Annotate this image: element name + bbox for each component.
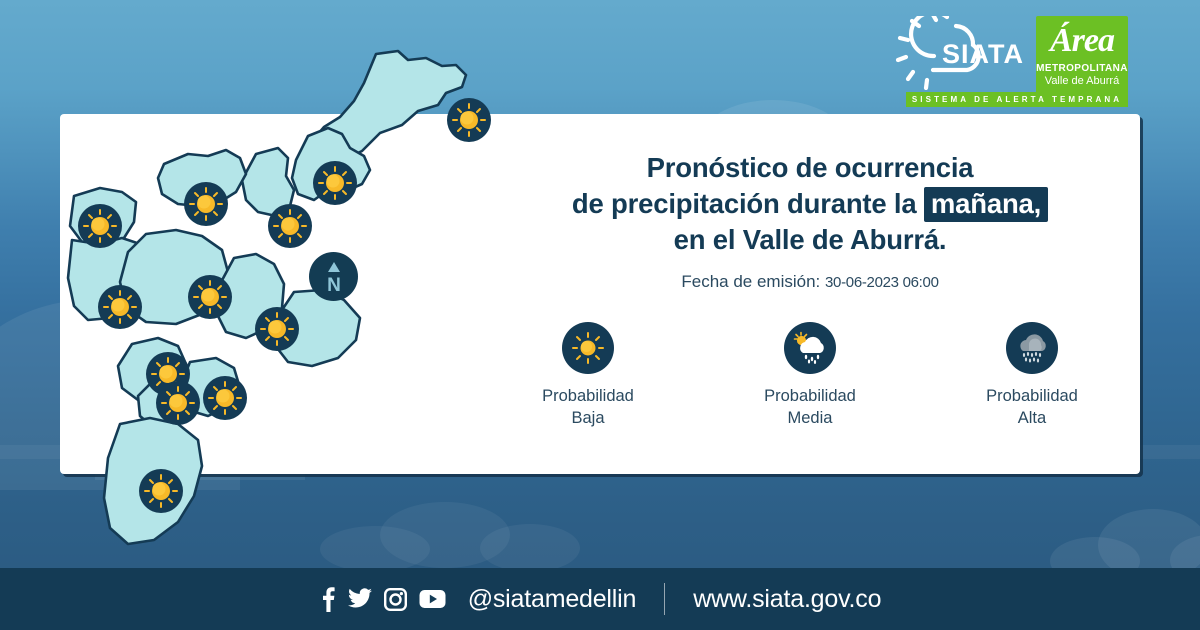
footer-bar: @siatamedellin www.siata.gov.co	[0, 568, 1200, 630]
legend-label-baja: Probabilidad Baja	[542, 385, 634, 429]
siata-logo: SIATA	[894, 16, 1024, 90]
legend-media-line1: Probabilidad	[764, 385, 856, 407]
social-handle[interactable]: @siatamedellin	[468, 585, 637, 614]
forecast-content: Pronóstico de ocurrencia de precipitació…	[500, 150, 1120, 429]
tagline-band: SISTEMA DE ALERTA TEMPRANA	[906, 92, 1128, 107]
marker-girardota[interactable]	[313, 161, 357, 205]
ama-line2: Valle de Aburrá	[1045, 75, 1119, 88]
marker-envigado[interactable]	[255, 307, 299, 351]
logo-group: SIATA Área METROPOLITANA Valle de Aburrá	[894, 16, 1128, 100]
area-metropolitana-logo: Área METROPOLITANA Valle de Aburrá	[1036, 16, 1128, 100]
legend-baja-line1: Probabilidad	[542, 385, 634, 407]
legend-item-media: Probabilidad Media	[740, 322, 880, 429]
emission-date-row: Fecha de emisión: 30-06-2023 06:00	[500, 272, 1120, 292]
page-title: Pronóstico de ocurrencia de precipitació…	[500, 150, 1120, 258]
sun-rain-cloud-icon	[784, 322, 836, 374]
legend-alta-line1: Probabilidad	[986, 385, 1078, 407]
title-line-2: de precipitación durante la mañana,	[500, 186, 1120, 222]
siata-logo-text: SIATA	[942, 39, 1024, 69]
ama-script-text: Área	[1050, 19, 1114, 63]
emission-date: 30-06-2023 06:00	[825, 274, 939, 291]
legend-label-media: Probabilidad Media	[764, 385, 856, 429]
facebook-icon[interactable]	[319, 586, 336, 612]
emission-label: Fecha de emisión:	[681, 272, 820, 291]
compass-label: N	[327, 275, 341, 294]
title-line-3: en el Valle de Aburrá.	[500, 222, 1120, 258]
marker-bello-norte[interactable]	[78, 204, 122, 248]
website-url[interactable]: www.siata.gov.co	[693, 585, 881, 614]
marker-sabaneta[interactable]	[203, 376, 247, 420]
marker-bello[interactable]	[98, 285, 142, 329]
legend-media-line2: Media	[764, 407, 856, 429]
valle-de-aburra-map	[58, 44, 478, 564]
cloud-decoration	[1050, 505, 1200, 575]
infographic: SIATA Área METROPOLITANA Valle de Aburrá…	[0, 0, 1200, 630]
marker-barbosa[interactable]	[447, 98, 491, 142]
instagram-icon[interactable]	[384, 588, 407, 611]
marker-la-estrella[interactable]	[156, 381, 200, 425]
title-line-1: Pronóstico de ocurrencia	[500, 150, 1120, 186]
marker-caldas[interactable]	[139, 469, 183, 513]
probability-legend: Probabilidad Baja	[500, 322, 1120, 429]
marker-copacabana[interactable]	[268, 204, 312, 248]
legend-item-baja: Probabilidad Baja	[518, 322, 658, 429]
legend-baja-line2: Baja	[542, 407, 634, 429]
ama-line1: METROPOLITANA	[1036, 63, 1128, 75]
rain-cloud-icon	[1006, 322, 1058, 374]
north-compass-badge: N	[309, 252, 358, 301]
legend-item-alta: Probabilidad Alta	[962, 322, 1102, 429]
marker-medellin[interactable]	[188, 275, 232, 319]
title-line-2-text: de precipitación durante la	[572, 188, 917, 219]
marker-san-pedro[interactable]	[184, 182, 228, 226]
sun-icon	[562, 322, 614, 374]
legend-label-alta: Probabilidad Alta	[986, 385, 1078, 429]
social-icons	[319, 586, 446, 612]
legend-alta-line2: Alta	[986, 407, 1078, 429]
footer-divider	[664, 583, 665, 615]
title-highlight: mañana,	[924, 187, 1048, 222]
twitter-icon[interactable]	[348, 588, 372, 610]
youtube-icon[interactable]	[419, 589, 446, 609]
